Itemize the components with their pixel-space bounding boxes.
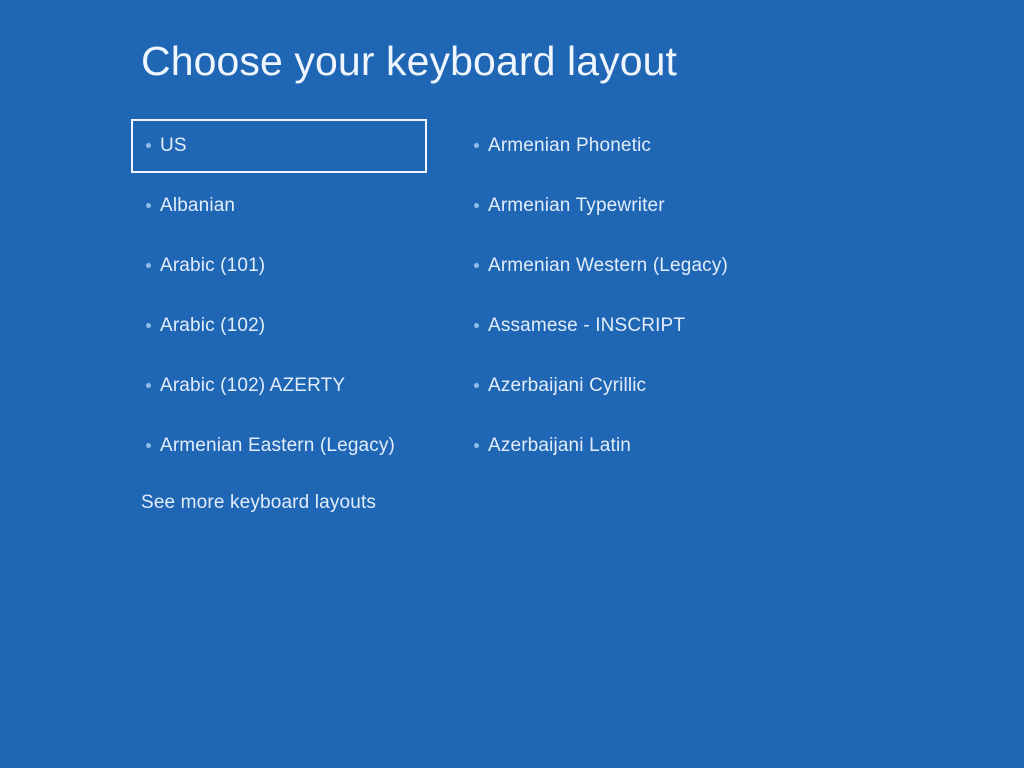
keyboard-layout-option-label: Arabic (101) <box>160 255 265 277</box>
keyboard-layout-option[interactable]: Armenian Phonetic <box>459 119 779 173</box>
keyboard-layout-option-label: Armenian Western (Legacy) <box>488 255 728 277</box>
keyboard-layout-option-label: US <box>160 135 187 157</box>
keyboard-layout-option[interactable]: Azerbaijani Cyrillic <box>459 359 779 413</box>
bullet-icon <box>146 263 151 268</box>
page-title: Choose your keyboard layout <box>141 39 677 84</box>
keyboard-layout-option-label: Albanian <box>160 195 235 217</box>
bullet-icon <box>146 323 151 328</box>
bullet-icon <box>474 143 479 148</box>
keyboard-layout-list-right: Armenian PhoneticArmenian TypewriterArme… <box>459 119 779 479</box>
keyboard-layout-option-label: Arabic (102) <box>160 315 265 337</box>
keyboard-layout-option[interactable]: Arabic (102) <box>131 299 427 353</box>
bullet-icon <box>474 383 479 388</box>
bullet-icon <box>146 383 151 388</box>
keyboard-layout-option[interactable]: Armenian Typewriter <box>459 179 779 233</box>
keyboard-layout-option-label: Assamese - INSCRIPT <box>488 315 685 337</box>
keyboard-layout-option-label: Armenian Typewriter <box>488 195 665 217</box>
keyboard-layout-list-left: USAlbanianArabic (101)Arabic (102)Arabic… <box>131 119 427 479</box>
see-more-keyboard-layouts-link[interactable]: See more keyboard layouts <box>141 492 376 514</box>
keyboard-layout-option-label: Armenian Phonetic <box>488 135 651 157</box>
bullet-icon <box>146 203 151 208</box>
keyboard-layout-option[interactable]: Azerbaijani Latin <box>459 419 779 473</box>
keyboard-layout-option[interactable]: Armenian Western (Legacy) <box>459 239 779 293</box>
bullet-icon <box>474 323 479 328</box>
keyboard-layout-option-label: Azerbaijani Cyrillic <box>488 375 646 397</box>
keyboard-layout-option[interactable]: Armenian Eastern (Legacy) <box>131 419 427 473</box>
keyboard-layout-option[interactable]: Arabic (101) <box>131 239 427 293</box>
keyboard-layout-option[interactable]: US <box>131 119 427 173</box>
keyboard-layout-option[interactable]: Assamese - INSCRIPT <box>459 299 779 353</box>
bullet-icon <box>146 143 151 148</box>
keyboard-layout-option-label: Azerbaijani Latin <box>488 435 631 457</box>
keyboard-layout-option[interactable]: Arabic (102) AZERTY <box>131 359 427 413</box>
keyboard-layout-option-label: Armenian Eastern (Legacy) <box>160 435 395 457</box>
bullet-icon <box>474 443 479 448</box>
keyboard-layout-screen: Choose your keyboard layout USAlbanianAr… <box>0 0 1024 768</box>
bullet-icon <box>474 203 479 208</box>
bullet-icon <box>474 263 479 268</box>
bullet-icon <box>146 443 151 448</box>
keyboard-layout-option-label: Arabic (102) AZERTY <box>160 375 345 397</box>
keyboard-layout-option[interactable]: Albanian <box>131 179 427 233</box>
